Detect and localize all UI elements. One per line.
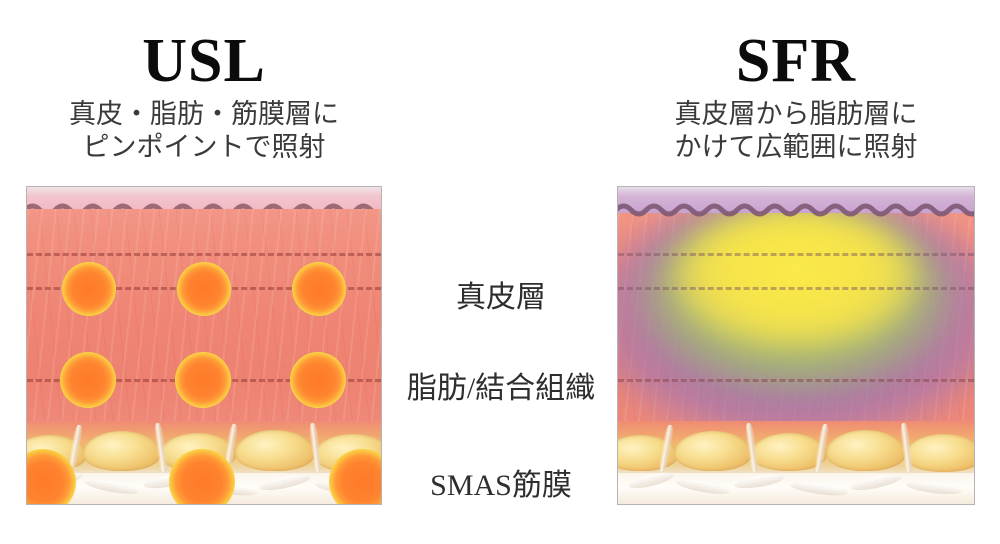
label-fat: 脂肪/結合組織 — [386, 363, 616, 407]
usl-heading: USL 真皮・脂肪・筋膜層に ピンポイントで照射 — [26, 30, 382, 164]
usl-focal-dot — [175, 352, 231, 408]
fat-layer-sfr — [618, 421, 974, 473]
layer-labels: 真皮層 脂肪/結合組織 SMAS筋膜 — [386, 186, 616, 516]
usl-title: USL — [26, 30, 382, 92]
usl-focal-dot — [62, 262, 116, 316]
dermis-dashed-line-1-sfr — [618, 253, 974, 256]
usl-subtitle-line2: ピンポイントで照射 — [26, 131, 382, 164]
smas-layer-sfr — [618, 473, 974, 505]
dermis-dashed-line-3-sfr — [618, 379, 974, 382]
sfr-title: SFR — [617, 30, 975, 92]
dermis-dashed-line-2-sfr — [618, 287, 974, 290]
label-dermis: 真皮層 — [386, 272, 616, 316]
sfr-skin-diagram — [617, 186, 975, 505]
usl-skin-diagram — [26, 186, 382, 505]
label-smas: SMAS筋膜 — [386, 460, 616, 504]
usl-focal-dot — [177, 262, 231, 316]
usl-focal-dot — [292, 262, 346, 316]
sfr-subtitle-line1: 真皮層から脂肪層に — [617, 98, 975, 131]
sfr-subtitle-line2: かけて広範囲に照射 — [617, 131, 975, 164]
epidermis-wave-line-sfr — [617, 201, 975, 219]
comparison-figure: USL 真皮・脂肪・筋膜層に ピンポイントで照射 SFR 真皮層から脂肪層に か… — [0, 0, 1000, 544]
usl-focal-dot — [60, 352, 116, 408]
usl-focal-dot — [290, 352, 346, 408]
sfr-plume-core — [674, 207, 918, 349]
sfr-heading: SFR 真皮層から脂肪層に かけて広範囲に照射 — [617, 30, 975, 164]
usl-subtitle-line1: 真皮・脂肪・筋膜層に — [26, 98, 382, 131]
dermis-dashed-line-1-usl — [27, 253, 381, 256]
